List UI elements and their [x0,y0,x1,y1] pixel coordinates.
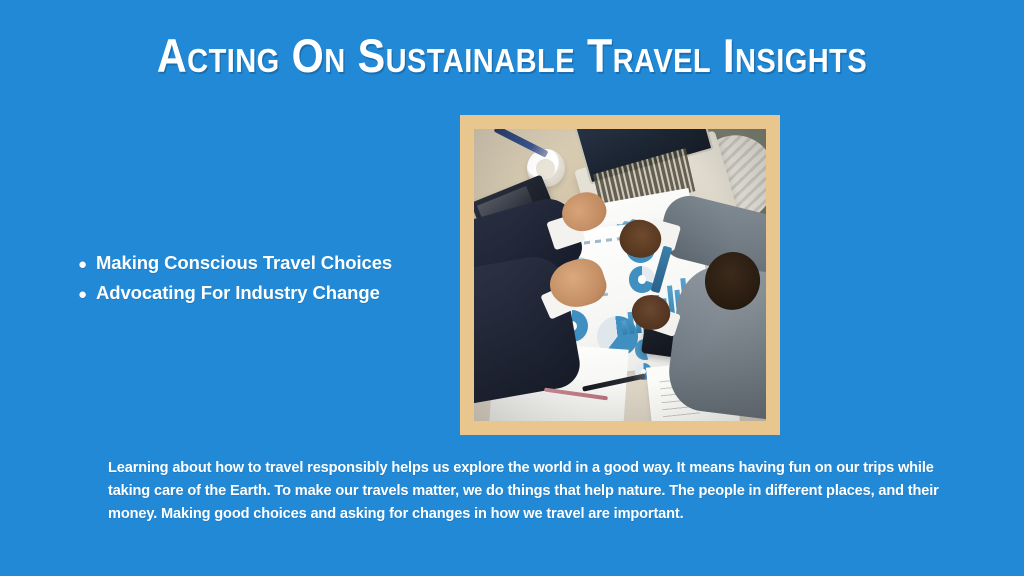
photo-frame [460,115,780,435]
bullet-label: Making Conscious Travel Choices [96,248,392,278]
bullet-label: Advocating For Industry Change [96,278,380,308]
page-title: Acting On Sustainable Travel Insights [61,32,962,79]
bullet-list: ● Making Conscious Travel Choices ● Advo… [78,248,392,308]
list-item: ● Making Conscious Travel Choices [78,248,392,278]
body-paragraph: Learning about how to travel responsibly… [108,457,940,527]
photo-vignette [474,129,766,421]
list-item: ● Advocating For Industry Change [78,278,392,308]
bullet-dot-icon: ● [78,257,96,272]
business-team-meeting-photo [474,129,766,421]
bullet-dot-icon: ● [78,287,96,302]
